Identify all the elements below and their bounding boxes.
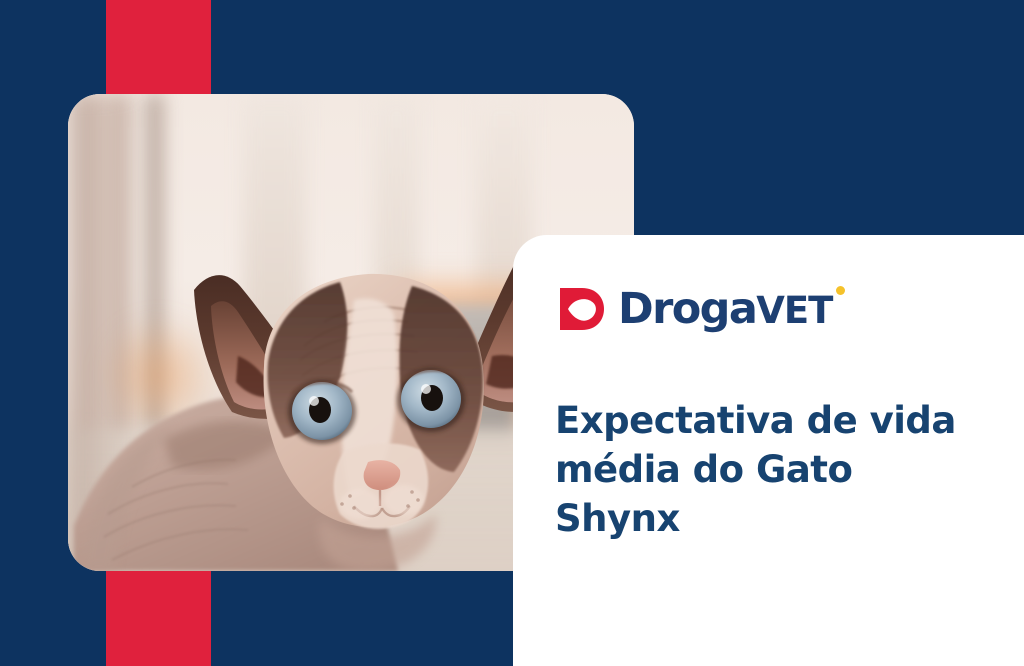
drogavet-d-mark-icon xyxy=(555,284,607,334)
logo-text-vet: VET xyxy=(756,289,832,332)
content-panel: DrogaVET Expectativa de vida média do Ga… xyxy=(513,235,1024,666)
headline-line-1: Expectativa de vida xyxy=(555,399,956,442)
headline-line-2: média do Gato Shynx xyxy=(555,448,852,540)
logo-accent-dot-icon xyxy=(836,286,845,295)
page-title: Expectativa de vida média do Gato Shynx xyxy=(555,397,985,543)
promo-banner: DrogaVET Expectativa de vida média do Ga… xyxy=(0,0,1024,666)
logo-text-droga: Droga xyxy=(618,284,756,334)
drogavet-wordmark: DrogaVET xyxy=(618,288,832,331)
panel-body: DrogaVET Expectativa de vida média do Ga… xyxy=(555,283,998,568)
drogavet-logo[interactable]: DrogaVET xyxy=(555,283,998,335)
